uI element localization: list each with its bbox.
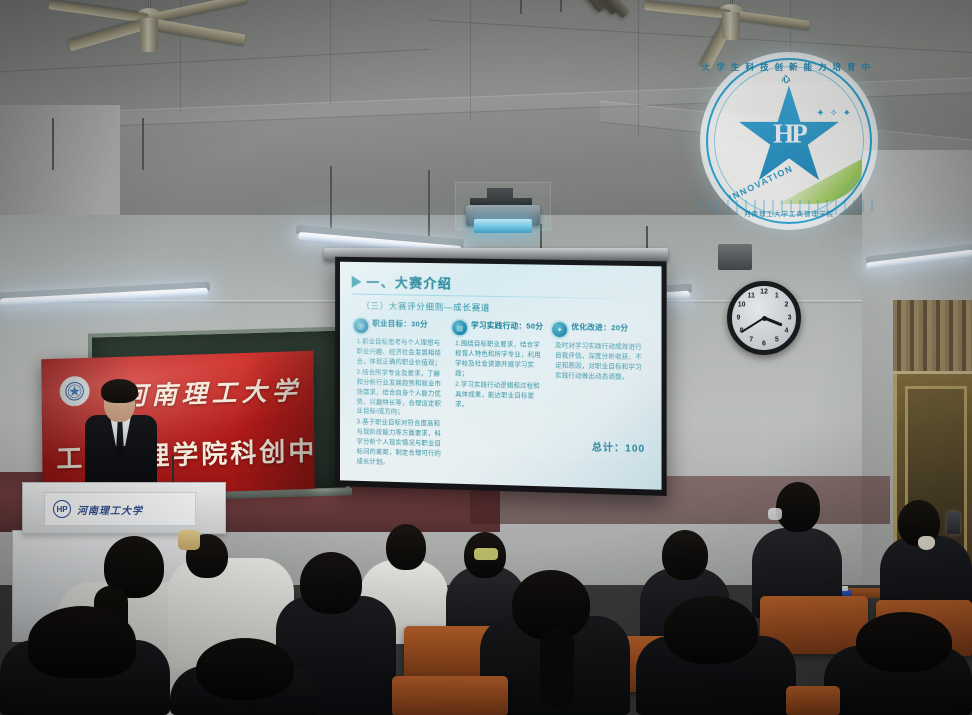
clock-numeral: 4 [784,327,788,334]
slide-column-practice-action: ▤ 学习实践行动：50分 1.围绕目标职业要求，结合学校育人特色和所学专业，利用… [452,320,546,473]
projector-lens [474,219,532,233]
arrow-bullet-icon [352,275,362,287]
presentation-slide: 一、大赛介绍 （三）大赛评分细则—成长赛道 ◎ 职业目标：30分 1.职业目标思… [340,262,662,490]
column-body-line: 及时对学习实践行动成效进行自我评估，深度分析收获、不足和原因，对职业目标和学习实… [555,341,647,383]
person-head [28,606,136,678]
projector-arm [470,198,532,205]
clock-center-pin [762,316,767,321]
lecture-seat [392,676,508,715]
column-body-line: 1.职业目标思考与个人理想与职业兴趣、经济社会发展相结合，体现正确的职业价值观； [357,337,447,368]
column-body-line: 2.结合所学专业及要求，了解和分析行业发展趋势和就业市场需求，结合自身个人能力优… [357,368,447,419]
person-head [386,524,426,570]
column-header: ◎ 职业目标：30分 [354,318,447,335]
logo-sparkles-icon: ✦ ✧ ✦ [816,108,852,119]
column-body-line: 3.基于职业目标对符合度高和与现阶段能力等方面要求，科学分析个人现实情况与职业目… [357,418,447,470]
hair-scrunchie [918,536,935,550]
lecture-hall-photo: 12 1 2 3 4 5 6 7 8 9 10 11 河南理工大学 工商管理 [0,0,972,715]
ponytail [540,628,574,708]
clock-numeral: 5 [775,337,779,344]
target-icon: ◎ [354,318,369,333]
slide-subtitle: （三）大赛评分细则—成长赛道 [362,300,654,317]
event-banner: 河南理工大学 工商管理学院科创中心 [41,351,314,498]
clock-numeral: 2 [784,302,788,309]
microphone-stem [172,455,174,485]
wall-speaker-box [718,244,752,270]
improve-icon: ✦ [552,322,567,337]
person-head [856,612,952,672]
column-heading: 优化改进：20分 [571,322,628,333]
column-body-line: 1.围绕目标职业要求，结合学校育人特色和所学专业，利用学校及社会资源开展学习实践… [455,339,546,381]
person-head [300,552,362,614]
light-hanger [520,0,522,14]
column-body: 1.职业目标思考与个人理想与职业兴趣、经济社会发展相结合，体现正确的职业价值观；… [354,337,447,469]
university-star-emblem-icon [59,376,89,407]
light-hanger [560,0,562,12]
center-watermark-logo: 大学生科技创新能力培育中心 HP ✦ ✧ ✦ INNOVATION 河南理工大学… [700,52,878,230]
podium-university-name: 河南理工大学 [77,502,143,517]
light-hanger [52,118,54,170]
column-heading: 职业目标：30分 [372,319,428,330]
clock-numeral: 10 [738,302,746,309]
lecture-seat [786,686,840,715]
clock-numeral: 9 [736,315,740,322]
slide-title: 一、大赛介绍 [366,272,452,292]
ceiling-seam-v [180,0,181,112]
logo-monogram: HP [773,118,805,149]
fan-motor-right [722,12,740,40]
logo-top-text: 大学生科技创新能力培育中心 [700,61,878,85]
hair-clip [178,530,200,550]
logo-bottom-text: 河南理工大学工商管理学院 [700,208,878,218]
column-body-line: 2.学习实践行动逻辑和过程和具体成果，能达职业目标要求。 [455,380,546,412]
light-hanger [428,170,430,240]
projection-screen-frame: 一、大赛介绍 （三）大赛评分细则—成长赛道 ◎ 职业目标：30分 1.职业目标思… [335,257,667,496]
clock-numeral: 3 [788,315,792,322]
projection-screen: 一、大赛介绍 （三）大赛评分细则—成长赛道 ◎ 职业目标：30分 1.职业目标思… [340,262,662,490]
person-head [196,638,294,700]
fan-motor [140,18,158,52]
podium-nameplate: HP 河南理工大学 [44,492,196,526]
slide-title-row: 一、大赛介绍 [352,272,654,296]
ceiling-seam-v [330,0,331,104]
university-emblem-icon: HP [53,500,71,518]
person-head [662,530,708,580]
column-heading: 学习实践行动：50分 [471,320,543,331]
ceiling-seam-v [638,0,639,136]
yellow-scarf [474,548,498,560]
light-hanger [142,118,144,170]
banner-university-name: 河南理工大学 [121,371,301,413]
wall-clock: 12 1 2 3 4 5 6 7 8 9 10 11 [727,281,801,355]
slide-total-score: 总计：100 [592,438,645,455]
column-body: 1.围绕目标职业要求，结合学校育人特色和所学专业，利用学校及社会资源开展学习实践… [452,339,546,412]
ceiling-seam-v [470,0,471,120]
column-header: ▤ 学习实践行动：50分 [452,320,546,337]
slide-column-career-goal: ◎ 职业目标：30分 1.职业目标思考与个人理想与职业兴趣、经济社会发展相结合，… [354,318,447,470]
clock-numeral: 6 [762,340,766,347]
person-head [776,482,820,532]
clock-numeral: 12 [760,289,768,296]
column-header: ✦ 优化改进：20分 [552,322,647,339]
presenter-hair [101,379,138,403]
face-mask [768,508,782,520]
clock-numeral: 1 [775,292,779,299]
column-body: 及时对学习实践行动成效进行自我评估，深度分析收获、不足和原因，对职业目标和学习实… [552,341,647,383]
window-curtain [893,300,972,374]
smartphone[interactable] [947,512,960,534]
person-head [664,596,758,664]
clock-numeral: 7 [749,337,753,344]
clock-numeral: 11 [747,292,754,299]
action-icon: ▤ [452,320,467,335]
